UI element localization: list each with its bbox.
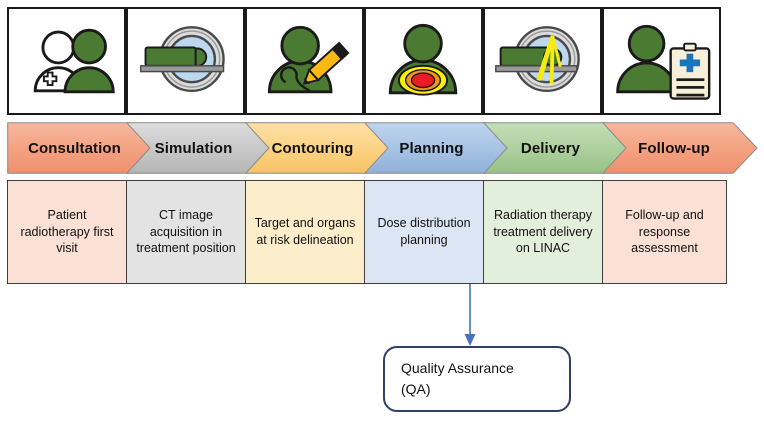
qa-connector-arrow xyxy=(455,284,489,350)
description-text-simulation: CT image acquisition in treatment positi… xyxy=(133,207,239,258)
description-text-consultation: Patient radiotherapy first visit xyxy=(14,207,120,258)
description-text-contouring: Target and organs at risk delineation xyxy=(252,215,358,249)
description-text-followup: Follow-up and response assessment xyxy=(609,207,720,258)
clinician-and-patient-icon xyxy=(9,9,124,113)
qa-line-1: Quality Assurance xyxy=(401,358,514,379)
qa-line-2: (QA) xyxy=(401,379,514,400)
dose-distribution-icon xyxy=(366,9,481,113)
chevron-label-planning: Planning xyxy=(399,140,463,157)
icon-card-contouring xyxy=(245,7,364,115)
icon-card-followup xyxy=(602,7,721,115)
description-text-delivery: Radiation therapy treatment delivery on … xyxy=(490,207,596,258)
description-planning: Dose distribution planning xyxy=(364,180,484,284)
icon-card-consultation xyxy=(7,7,126,115)
description-delivery: Radiation therapy treatment delivery on … xyxy=(483,180,603,284)
chevron-label-followup: Follow-up xyxy=(638,140,710,157)
chevron-label-simulation: Simulation xyxy=(155,140,233,157)
down-arrow-icon xyxy=(465,334,476,346)
chevron-followup[interactable]: Follow-up xyxy=(602,122,758,174)
patient-with-pencil-icon xyxy=(247,9,362,113)
linac-beam-icon xyxy=(485,9,600,113)
chevron-label-consultation: Consultation xyxy=(28,140,121,157)
description-simulation: CT image acquisition in treatment positi… xyxy=(126,180,246,284)
description-text-planning: Dose distribution planning xyxy=(371,215,477,249)
description-contouring: Target and organs at risk delineation xyxy=(245,180,365,284)
chevron-label-contouring: Contouring xyxy=(272,140,354,157)
description-followup: Follow-up and response assessment xyxy=(602,180,727,284)
description-consultation: Patient radiotherapy first visit xyxy=(7,180,127,284)
quality-assurance-node[interactable]: Quality Assurance (QA) xyxy=(383,346,571,412)
quality-assurance-label: Quality Assurance (QA) xyxy=(401,358,514,400)
icon-card-planning xyxy=(364,7,483,115)
workflow-diagram: Consultation Simulation xyxy=(0,0,764,423)
patient-with-clipboard-icon xyxy=(604,9,719,113)
icon-card-simulation xyxy=(126,7,245,115)
chevron-label-delivery: Delivery xyxy=(521,140,580,157)
ct-scanner-icon xyxy=(128,9,243,113)
icon-card-delivery xyxy=(483,7,602,115)
